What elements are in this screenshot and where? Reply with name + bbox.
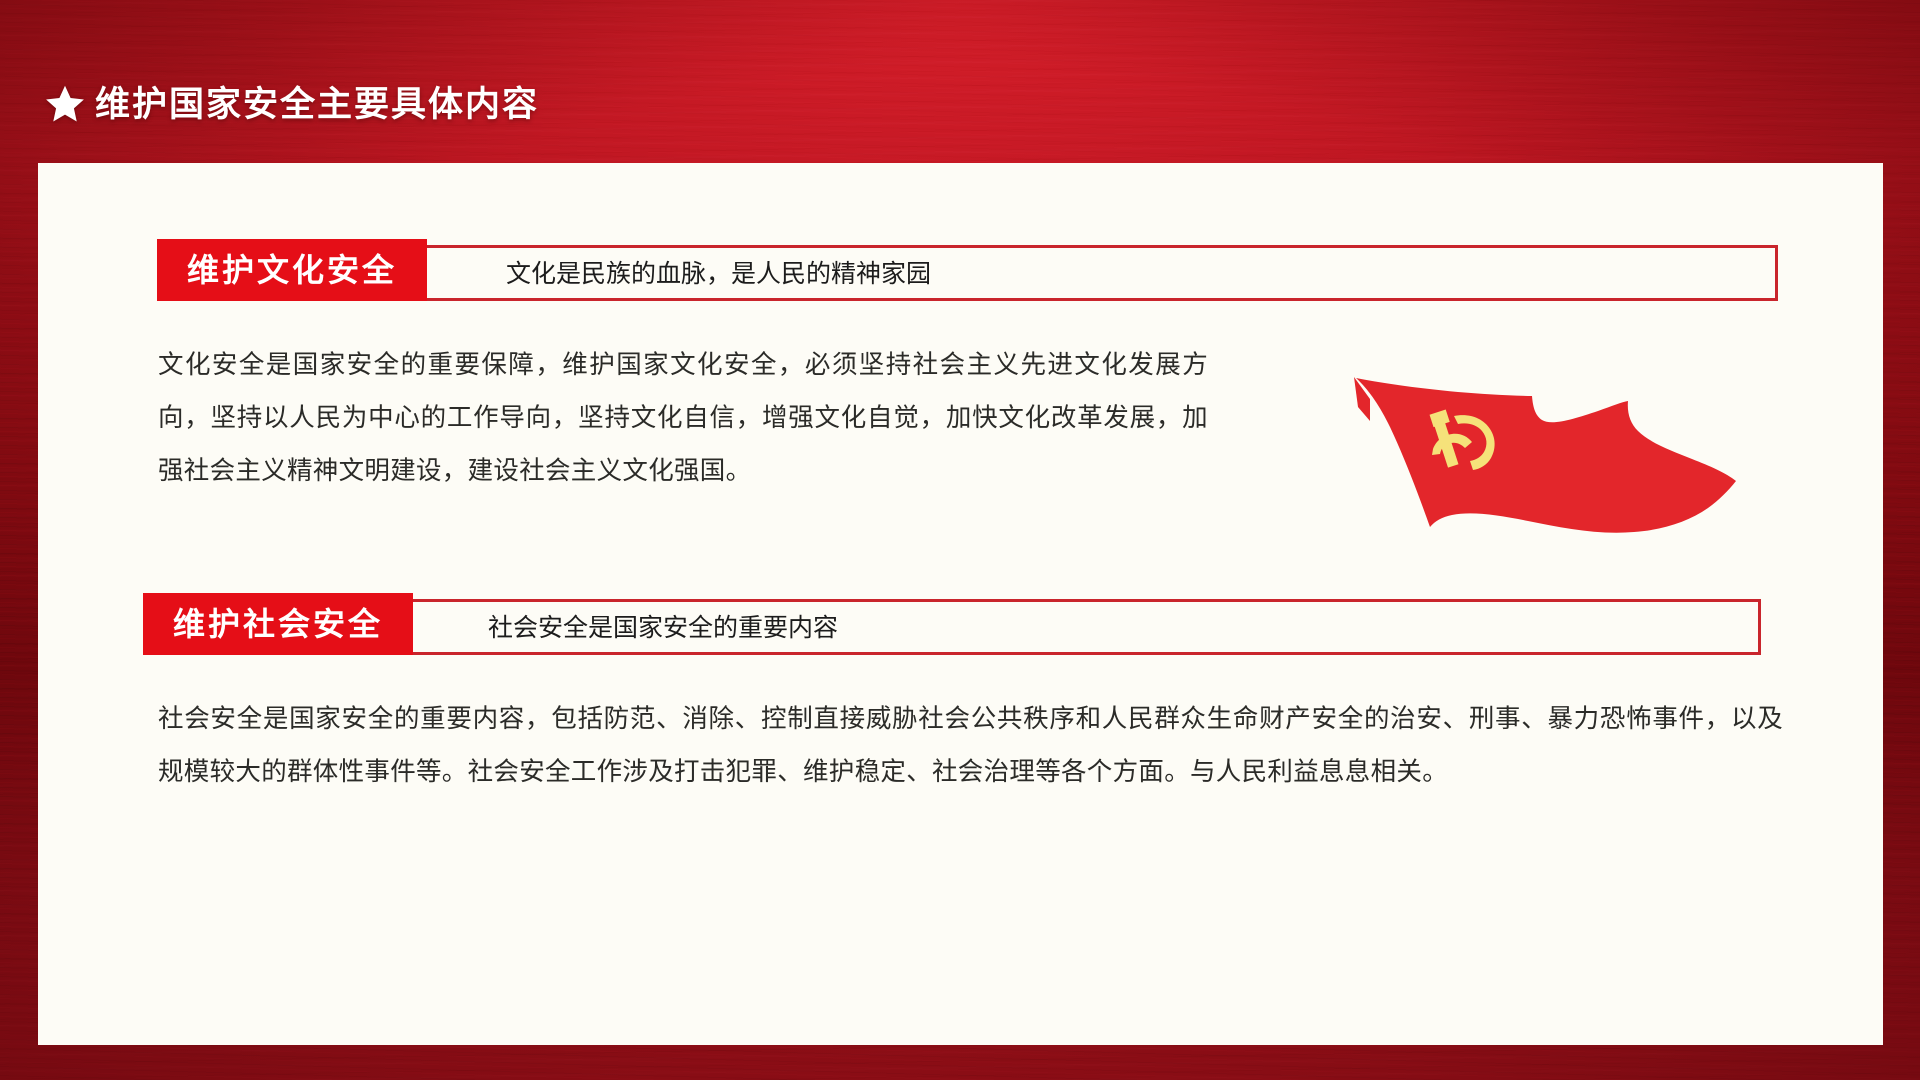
- section-2-badge-label: 维护社会安全: [173, 608, 383, 640]
- section-1-subtitle: 文化是民族的血脉，是人民的精神家园: [506, 262, 931, 287]
- section-2-badge[interactable]: 维护社会安全: [143, 593, 413, 655]
- section-2-subtitle: 社会安全是国家安全的重要内容: [488, 616, 838, 641]
- section-2-body: 社会安全是国家安全的重要内容，包括防范、消除、控制直接威胁社会公共秩序和人民群众…: [158, 693, 1783, 799]
- cpc-party-flag-icon: [1336, 369, 1746, 584]
- slide-title-bar: 维护国家安全主要具体内容: [44, 83, 539, 125]
- star-icon: [44, 83, 86, 125]
- section-1-badge-label: 维护文化安全: [187, 254, 397, 286]
- section-1-badge[interactable]: 维护文化安全: [157, 239, 427, 301]
- content-card: 维护文化安全 文化是民族的血脉，是人民的精神家园 文化安全是国家安全的重要保障，…: [38, 163, 1883, 1045]
- page-title: 维护国家安全主要具体内容: [95, 87, 539, 122]
- section-1-body: 文化安全是国家安全的重要保障，维护国家文化安全，必须坚持社会主义先进文化发展方向…: [158, 339, 1208, 498]
